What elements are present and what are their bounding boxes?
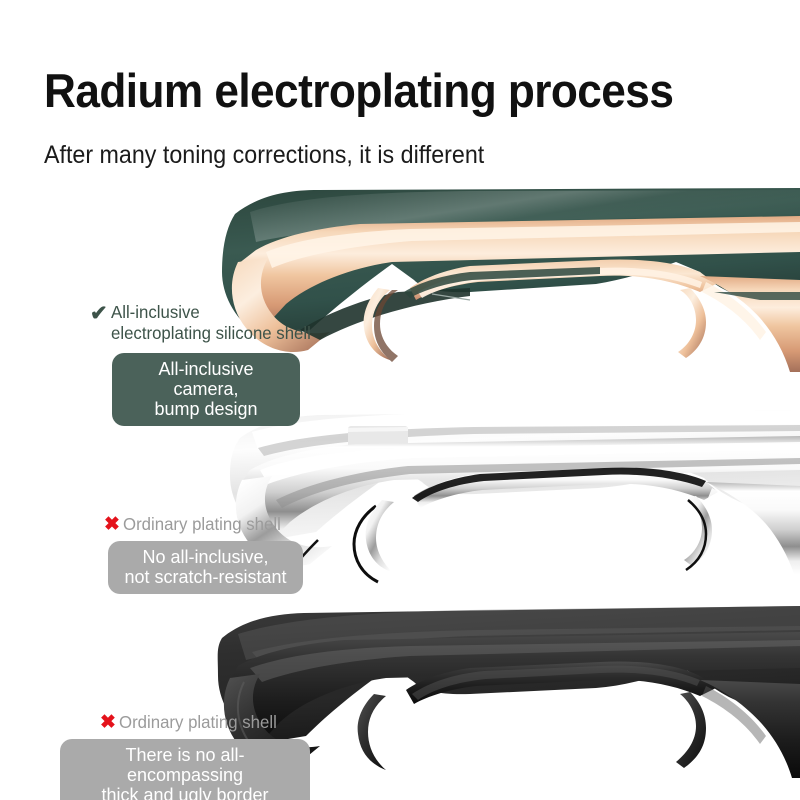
callout-black-heading: ✖ Ordinary plating shell (100, 712, 310, 733)
silver-case-illustration (230, 410, 800, 586)
callout-green-case: ✔ All-inclusive electroplating silicone … (90, 302, 319, 426)
silver-case-notch-left-outline (354, 506, 378, 582)
silver-case-camera-rim (414, 468, 718, 509)
black-rim-highlight (250, 640, 800, 682)
silver-notch-right-outline (686, 500, 706, 570)
black-case-right-rim (700, 680, 800, 778)
green-notch-left-shadow (374, 290, 398, 362)
silver-rim-highlight (260, 442, 800, 484)
callout-green-heading: ✔ All-inclusive electroplating silicone … (90, 302, 319, 344)
black-camera-rim-highlight (412, 666, 700, 700)
callout-silver-case: ✖ Ordinary plating shell No all-inclusiv… (104, 514, 303, 594)
silver-case-notch-left (366, 500, 394, 572)
page-title: Radium electroplating process (44, 66, 673, 116)
green-camera-inner-edge (404, 267, 600, 298)
callout-black-case: ✖ Ordinary plating shell There is no all… (100, 712, 310, 800)
silver-case-tab-bump (348, 426, 408, 448)
green-case-right-rim (700, 276, 800, 372)
green-case-gold-rim (236, 216, 800, 330)
green-case-sheen (250, 190, 800, 242)
green-rim-highlight (266, 222, 800, 268)
green-case-notch-left (364, 288, 390, 360)
check-icon: ✔ (90, 303, 108, 324)
black-right-rim-highlight (702, 686, 766, 744)
callout-black-pill: There is no all-encompassing thick and u… (60, 739, 310, 800)
green-right-inner-edge (714, 292, 800, 300)
silver-case-top-ridge (252, 410, 800, 450)
callout-green-heading-text: All-inclusive electroplating silicone sh… (111, 302, 311, 344)
silver-case-inner-line (370, 472, 520, 480)
silver-case-seam (258, 425, 800, 456)
black-case-sheen-2 (252, 626, 800, 664)
green-right-rim-highlight (702, 282, 766, 340)
callout-silver-heading: ✖ Ordinary plating shell (104, 514, 303, 535)
product-infographic: Radium electroplating process After many… (0, 0, 800, 800)
silver-case-right-rim (706, 482, 800, 574)
silver-case-rim (241, 436, 800, 544)
callout-black-heading-text: Ordinary plating shell (119, 712, 277, 733)
silver-rim-shadow (276, 458, 800, 508)
callout-green-heading-line2: electroplating silicone shell (111, 323, 311, 343)
green-case-notch-right (678, 288, 706, 358)
black-case-notch-left (358, 694, 386, 770)
silver-camera-rim-outline (412, 468, 706, 502)
x-icon: ✖ (104, 515, 120, 534)
green-camera-rim-highlight (418, 268, 702, 298)
callout-green-pill: All-inclusive camera, bump design (112, 353, 300, 426)
black-case-camera-rim (406, 662, 716, 704)
green-case-inner-edge (300, 288, 470, 340)
green-case-seam-line (432, 294, 470, 300)
black-case-sheen (238, 606, 800, 660)
x-icon: ✖ (100, 713, 116, 732)
silver-case-tab-highlight (348, 427, 408, 432)
page-subtitle: After many toning corrections, it is dif… (44, 140, 484, 170)
silver-case-notch-right (684, 496, 712, 566)
callout-silver-pill: No all-inclusive, not scratch-resistant (108, 541, 303, 594)
black-case-rim (229, 632, 800, 746)
silver-case-body (230, 410, 800, 540)
silver-right-rim-highlight (708, 488, 770, 546)
black-case-notch-right (676, 692, 706, 768)
callout-silver-heading-text: Ordinary plating shell (123, 514, 281, 535)
green-case-camera-rim (410, 260, 716, 301)
callout-green-heading-line1: All-inclusive (111, 302, 200, 322)
